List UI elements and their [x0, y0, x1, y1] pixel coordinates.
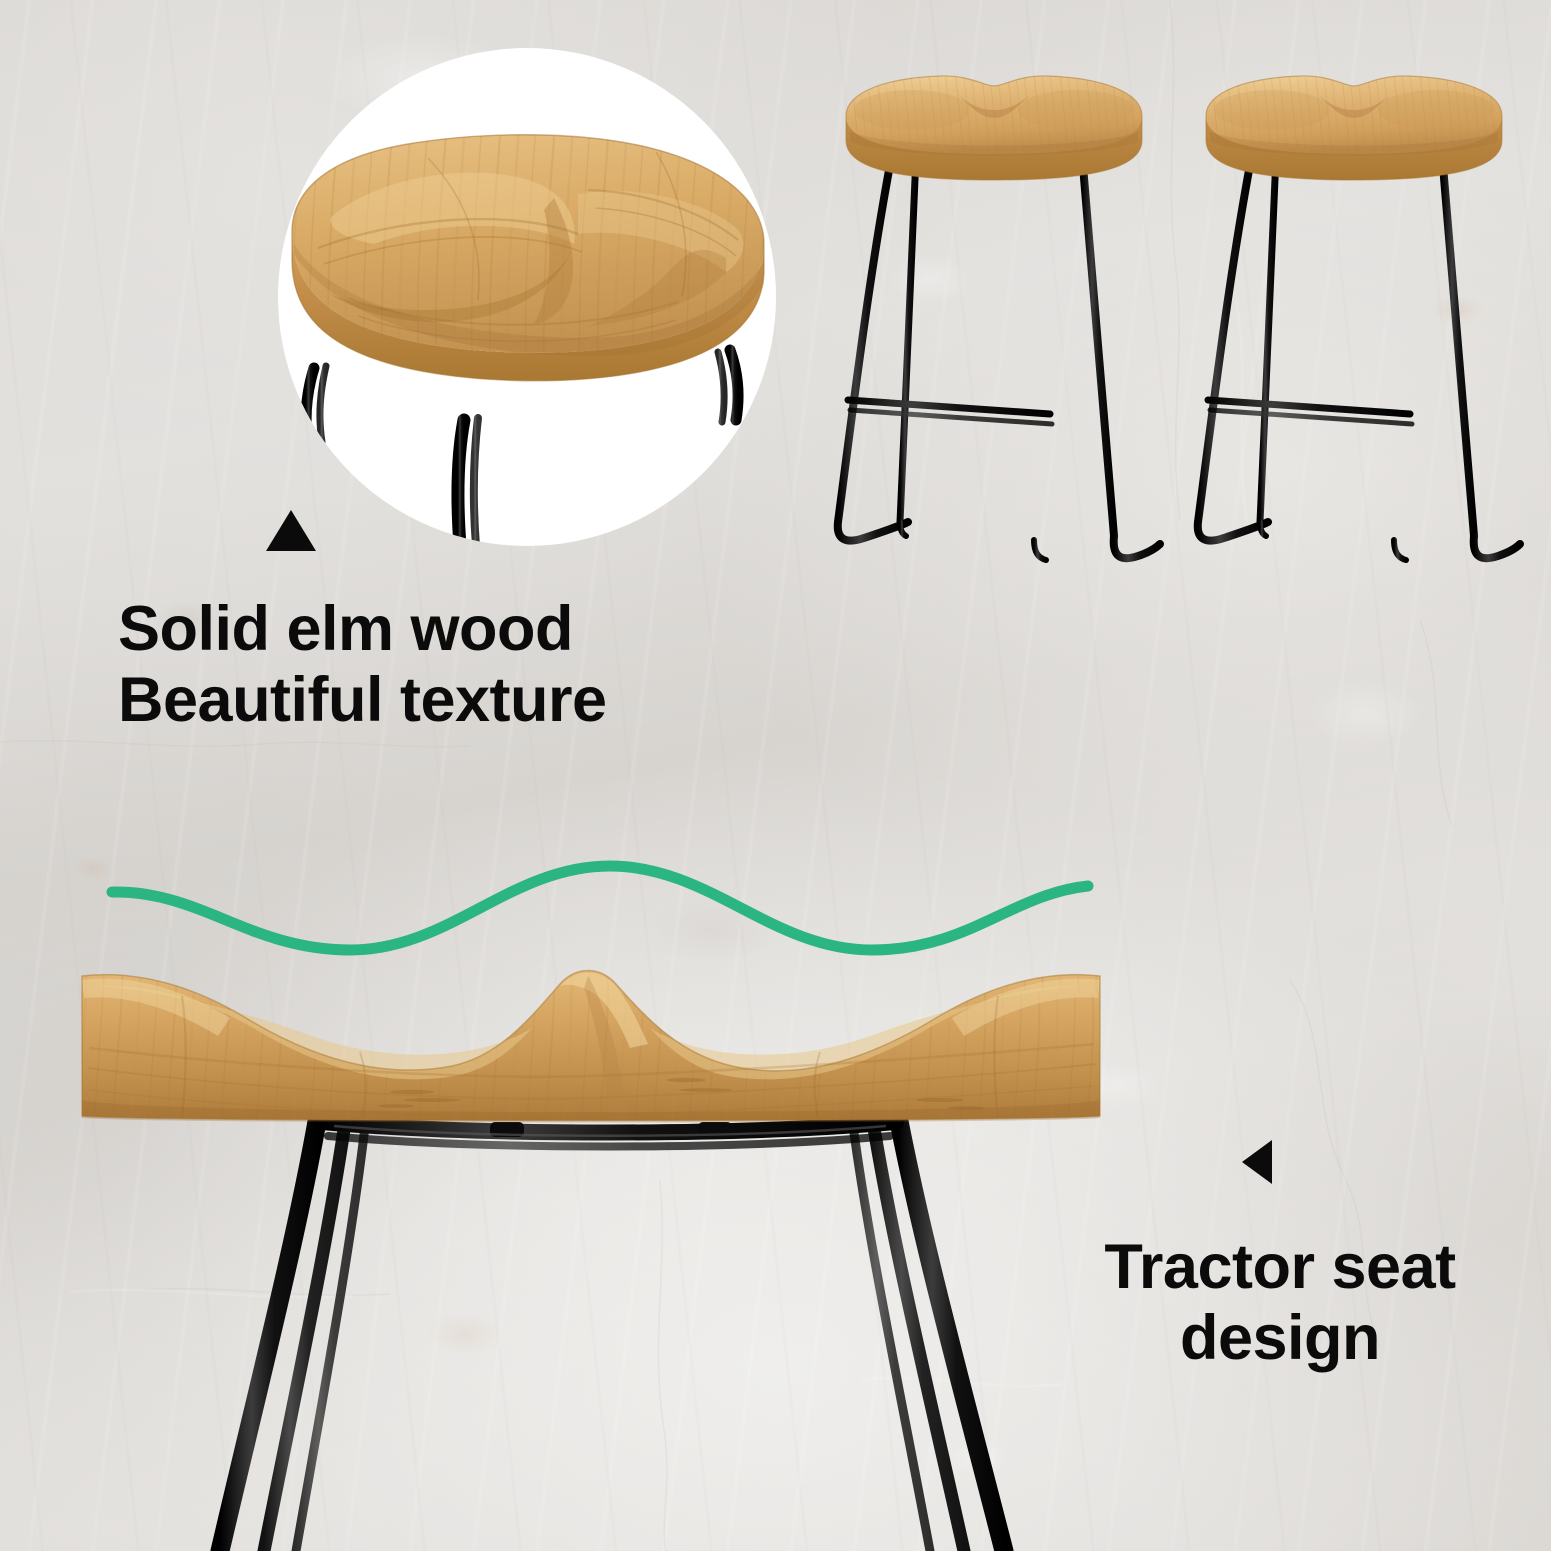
stool-seat-wood [846, 76, 1142, 180]
bar-stool-left [820, 70, 1168, 595]
seat-closeup-circle [278, 48, 776, 546]
closeup-stool-frame [220, 1116, 1004, 1551]
closeup-seat-wood [292, 135, 764, 381]
stool-seat-wood [1206, 76, 1502, 180]
seat-closeup-illustration [278, 48, 776, 546]
stool-frame [838, 154, 1160, 560]
bar-stool-right [1180, 70, 1528, 595]
triangle-left-icon [1242, 1140, 1272, 1184]
stool-frame [1198, 154, 1520, 560]
triangle-up-icon [266, 510, 316, 551]
product-feature-image: Solid elm wood Beautiful texture [0, 0, 1551, 1551]
callout-solid-elm-wood-text: Solid elm wood Beautiful texture [118, 594, 878, 735]
bar-stool-closeup [60, 940, 1120, 1551]
closeup-seat-slab [82, 971, 1100, 1123]
callout-tractor-seat-design-text: Tractor seat design [1050, 1232, 1510, 1373]
